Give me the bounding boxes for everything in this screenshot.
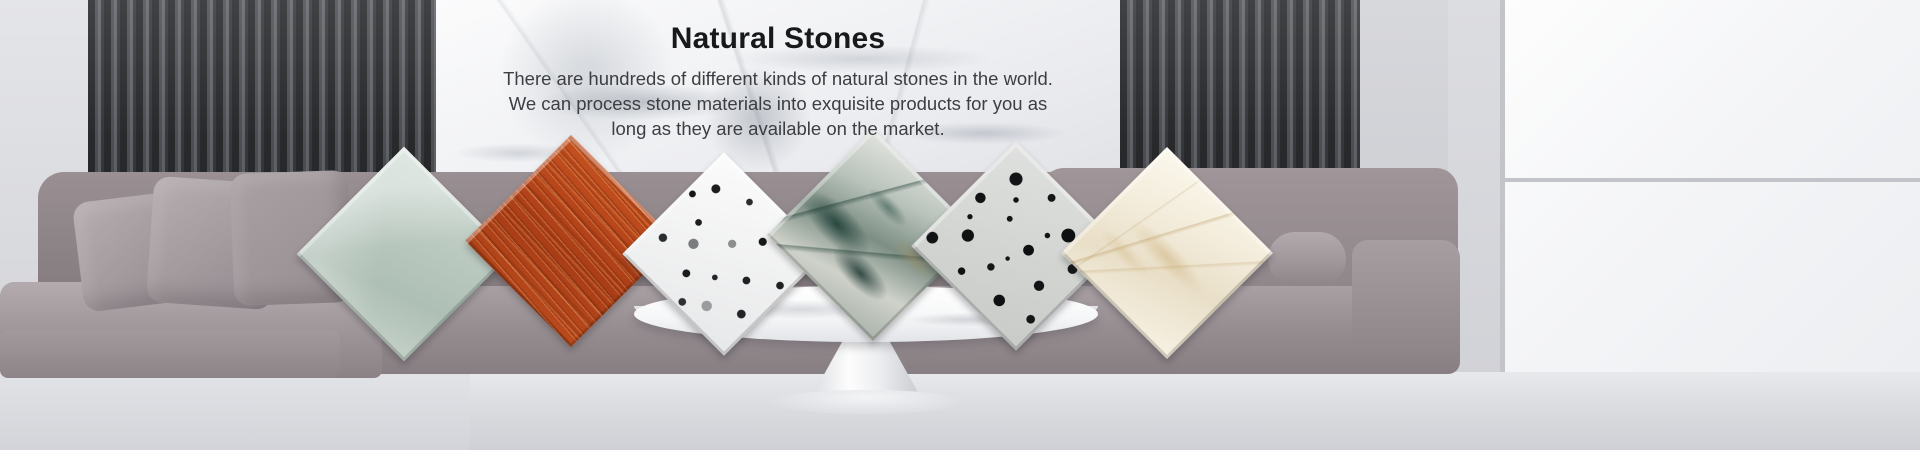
tile-bevel	[1061, 147, 1273, 359]
hero-text-block: Natural Stones There are hundreds of dif…	[436, 22, 1120, 141]
page-title: Natural Stones	[436, 22, 1120, 57]
subtitle-line-2: We can process stone materials into exqu…	[436, 91, 1120, 116]
subtitle-line-3: long as they are available on the market…	[436, 116, 1120, 141]
stone-tile-beige-onyx[interactable]	[1061, 147, 1273, 359]
hero-banner: Natural Stones There are hundreds of dif…	[0, 0, 1920, 450]
subtitle-line-1: There are hundreds of different kinds of…	[436, 66, 1120, 91]
page-subtitle: There are hundreds of different kinds of…	[436, 66, 1120, 141]
